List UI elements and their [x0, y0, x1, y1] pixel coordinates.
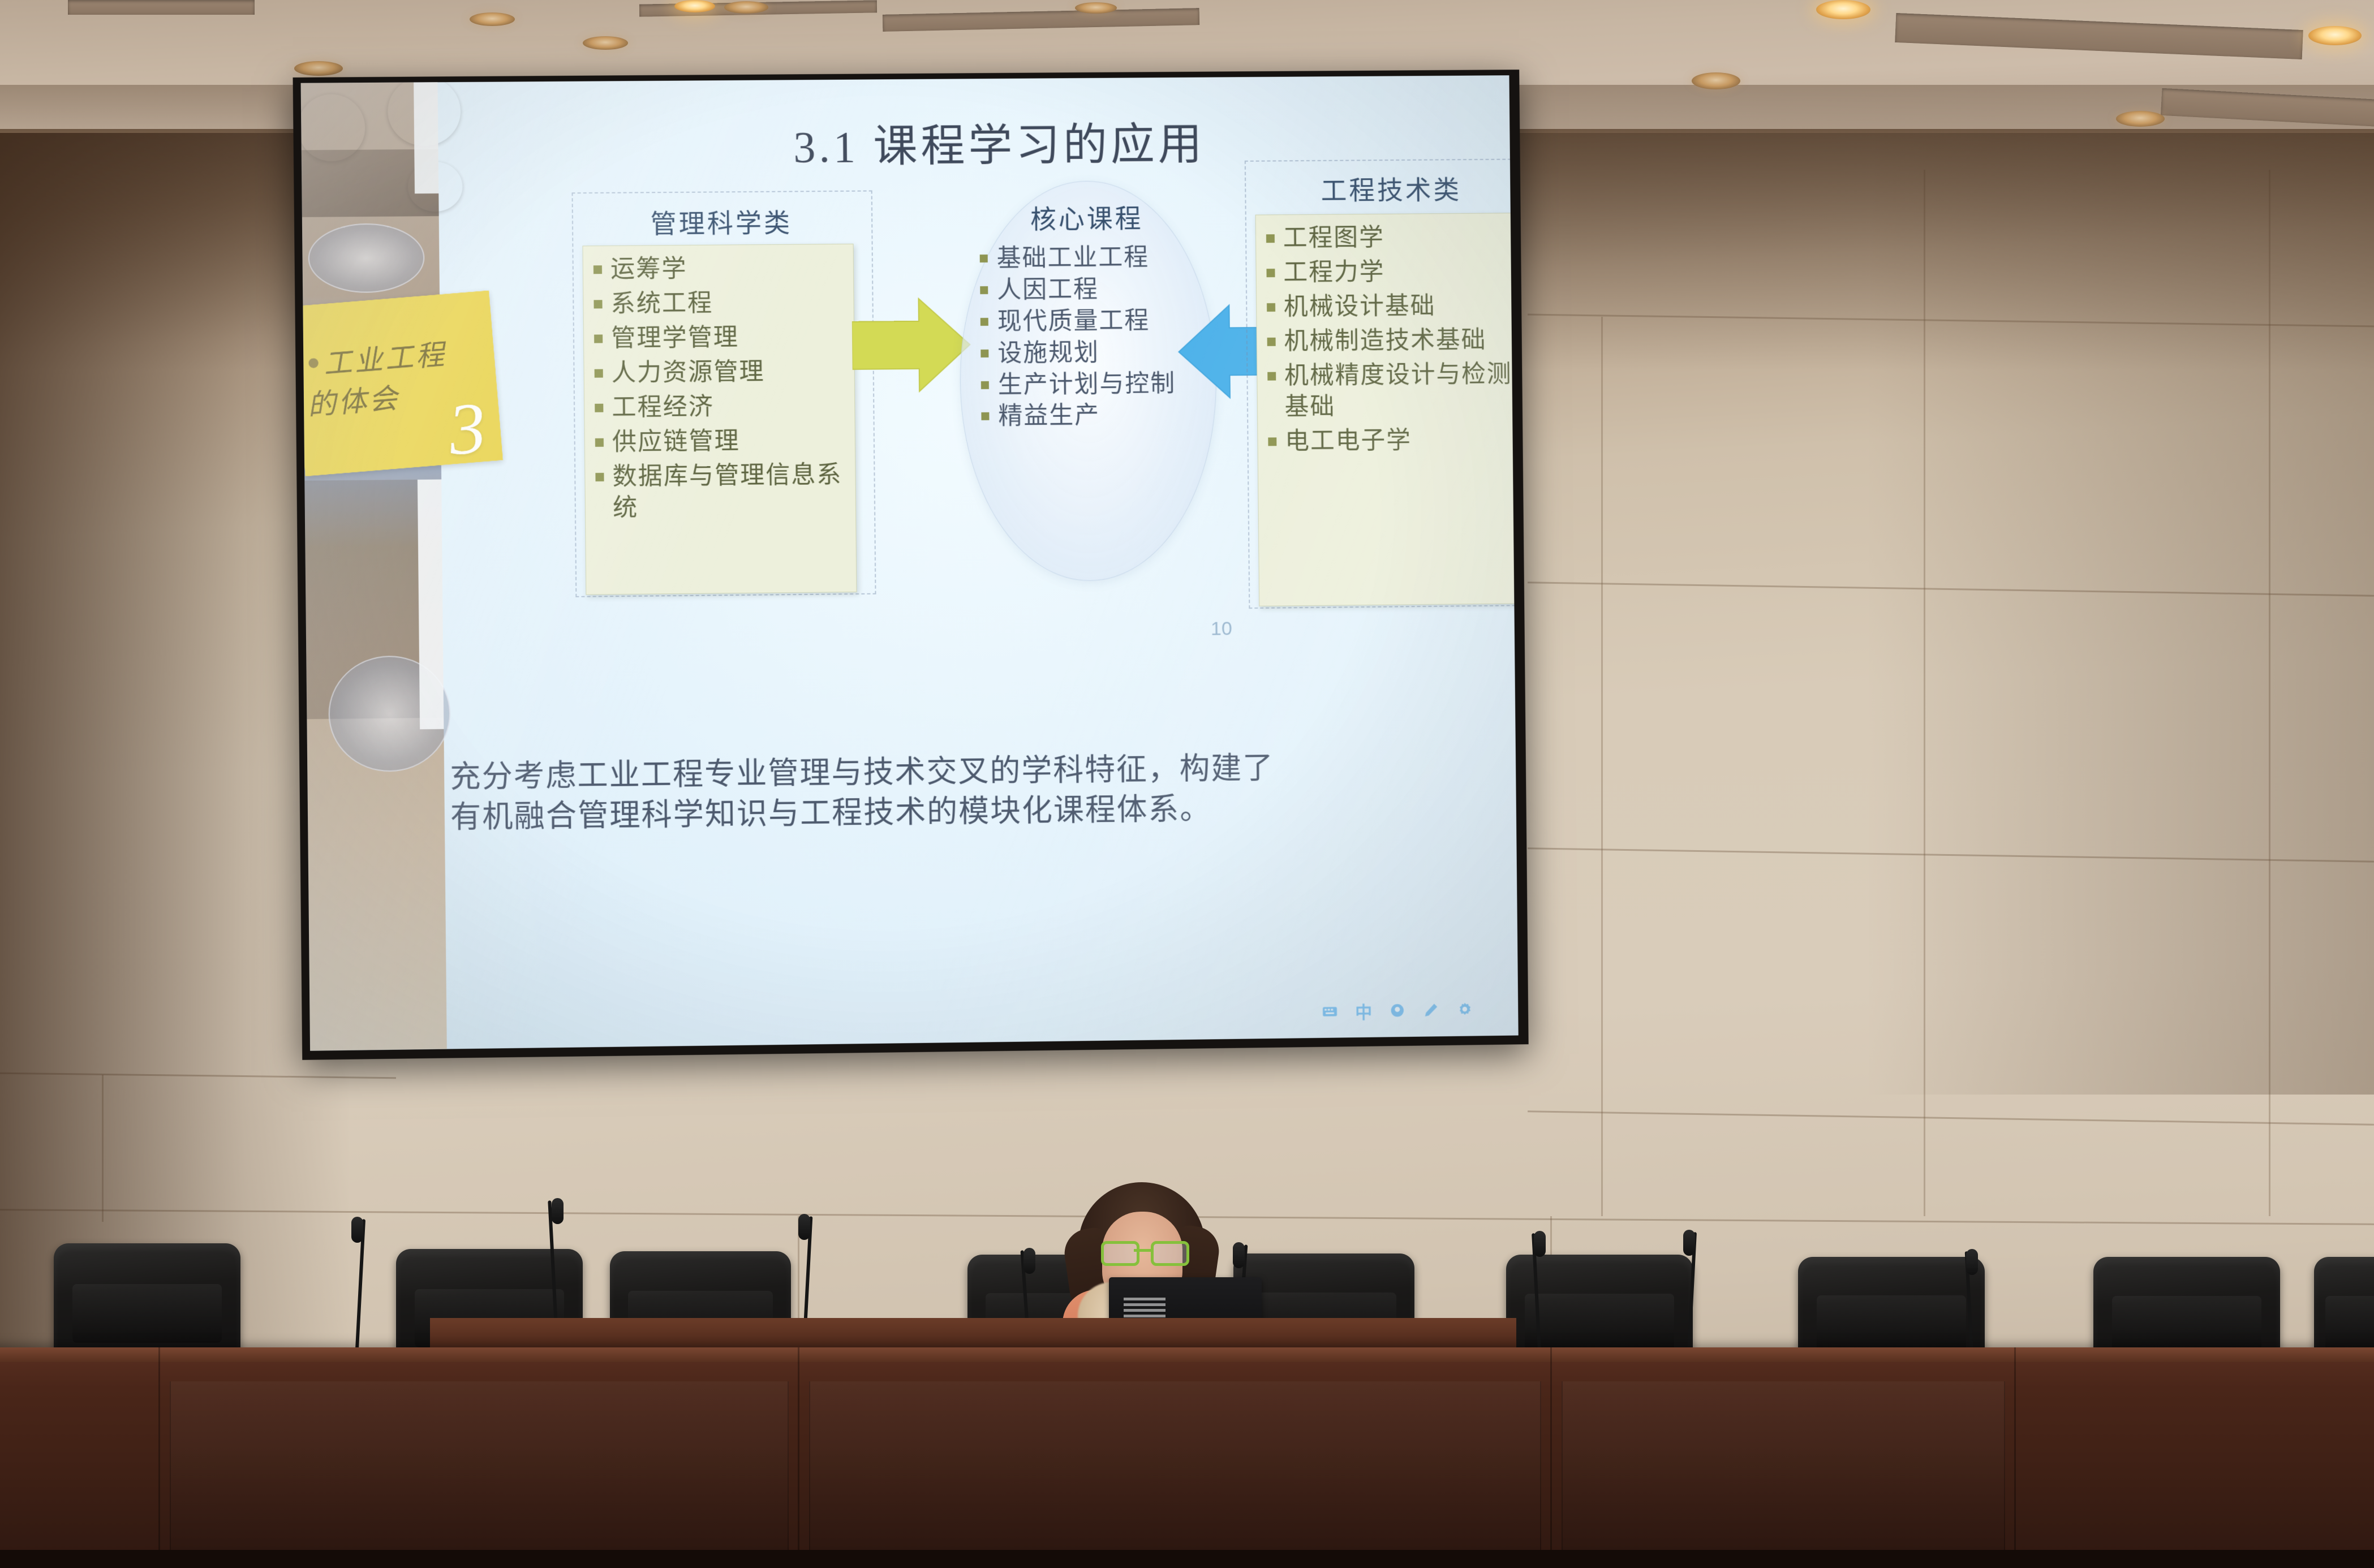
list-item: 工程经济: [592, 390, 848, 424]
right-column-heading: 工程技术类: [1245, 169, 1519, 208]
right-column-listbox: 工程图学 工程力学 机械设计基础 机械制造技术基础 机械精度设计与检测基础 电工…: [1255, 213, 1519, 606]
ceiling-panel-1: [68, 0, 255, 15]
microphone: [1687, 1232, 1692, 1351]
left-to-center-arrow: [851, 288, 971, 402]
right-column-list: 工程图学 工程力学 机械设计基础 机械制造技术基础 机械精度设计与检测基础 电工…: [1256, 213, 1519, 469]
ime-mode-label: 中: [1355, 998, 1372, 1023]
list-item: 工程图学: [1264, 221, 1514, 254]
list-item: 机械制造技术基础: [1265, 324, 1515, 357]
microphone: [1538, 1233, 1542, 1351]
gear-icon[interactable]: [1455, 1000, 1474, 1019]
list-item: 设施规划: [979, 336, 1210, 369]
badge-section-number: 3: [446, 391, 488, 467]
left-column-heading: 管理科学类: [572, 202, 871, 242]
badge-bullet-icon: [308, 358, 319, 368]
ceiling-downlight: [724, 1, 768, 14]
list-item: 机械设计基础: [1265, 290, 1515, 323]
ceiling-downlight: [2116, 111, 2165, 127]
ceiling-downlight: [583, 36, 628, 50]
list-item: 机械精度设计与检测基础: [1265, 359, 1515, 423]
slide-summary-text: 充分考虑工业工程专业管理与技术交叉的学科特征，构建了有机融合管理科学知识与工程技…: [450, 748, 1300, 838]
ceiling-downlight: [1816, 0, 1870, 19]
list-item: 数据库与管理信息系统: [593, 459, 849, 524]
desk-seam: [1550, 1347, 1552, 1568]
ceiling-downlight: [2308, 26, 2362, 45]
glasses-icon: [1101, 1241, 1184, 1261]
presentation-slide: 工业工程 的体会 3 3.1 课程学习的应用 管理科学类 运筹学 系统工程 管理…: [301, 75, 1519, 1050]
list-item: 供应链管理: [593, 425, 849, 458]
laptop-logo: [1124, 1298, 1166, 1318]
ceiling-downlight: [1692, 72, 1740, 89]
list-item: 运筹学: [591, 252, 847, 286]
microphone: [1970, 1251, 1975, 1352]
chair: [54, 1243, 240, 1356]
wall-seam: [1601, 317, 1603, 1216]
ceiling-downlight: [1075, 2, 1117, 14]
slide-decorative-photo-strip: [301, 82, 447, 1050]
left-column-list: 运筹学 系统工程 管理学管理 人力资源管理 工程经济 供应链管理 数据库与管理信…: [583, 244, 855, 536]
conference-desk: [0, 1347, 2374, 1568]
chinese-mode-icon[interactable]: 中: [1354, 1001, 1373, 1020]
desk-seam: [798, 1347, 799, 1568]
desk-front-panel: [170, 1381, 789, 1568]
keyboard-icon[interactable]: [1320, 1002, 1339, 1021]
list-item: 基础工业工程: [979, 242, 1209, 275]
badge-line-2: 的体会: [306, 375, 401, 423]
list-item: 现代质量工程: [979, 305, 1210, 338]
wall-right-shading: [1865, 133, 2374, 1095]
center-heading: 核心课程: [959, 197, 1215, 236]
list-item: 人力资源管理: [592, 356, 848, 389]
left-column-listbox: 运筹学 系统工程 管理学管理 人力资源管理 工程经济 供应链管理 数据库与管理信…: [582, 244, 857, 595]
list-item: 人因工程: [979, 273, 1209, 307]
desk-front-panel: [809, 1381, 1541, 1568]
photo-ornament-oval: [308, 223, 425, 293]
list-item: 生产计划与控制: [980, 368, 1210, 401]
list-item: 管理学管理: [592, 321, 848, 355]
photo-highlight: [418, 480, 444, 730]
section-badge: 工业工程 的体会 3: [301, 290, 503, 476]
projection-screen-frame: 工业工程 的体会 3 3.1 课程学习的应用 管理科学类 运筹学 系统工程 管理…: [293, 70, 1529, 1060]
pen-icon[interactable]: [1421, 1000, 1440, 1019]
desk-seam: [158, 1347, 160, 1568]
list-item: 精益生产: [980, 399, 1210, 433]
desk-top-edge: [0, 1347, 2374, 1362]
list-item: 系统工程: [591, 287, 847, 320]
desk-seam: [2014, 1347, 2016, 1568]
photo-highlight: [414, 82, 438, 193]
slide-page-number: 10: [1211, 618, 1232, 640]
list-item: 电工电子学: [1266, 424, 1516, 458]
badge-line-1: 工业工程: [322, 331, 448, 382]
ceiling-downlight: [294, 61, 343, 76]
floor-shadow: [0, 1550, 2374, 1568]
ceiling-downlight: [674, 0, 715, 12]
list-item: 工程力学: [1264, 256, 1514, 288]
punctuation-icon[interactable]: [1388, 1001, 1407, 1020]
ceiling-downlight: [470, 12, 515, 26]
conference-hall-scene: 工业工程 的体会 3 3.1 课程学习的应用 管理科学类 运筹学 系统工程 管理…: [0, 0, 2374, 1568]
podium-ledge: [430, 1318, 1516, 1352]
projection-screen: 工业工程 的体会 3 3.1 课程学习的应用 管理科学类 运筹学 系统工程 管理…: [301, 75, 1519, 1050]
microphone: [355, 1219, 360, 1349]
desk-front-panel: [1562, 1381, 2005, 1568]
ime-toolbar[interactable]: 中: [1320, 1000, 1474, 1021]
